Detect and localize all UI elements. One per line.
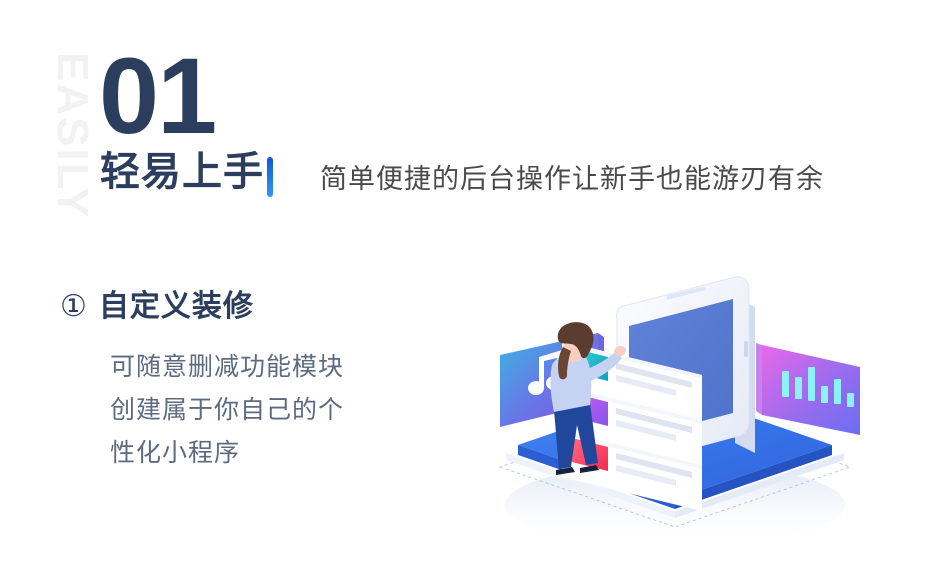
page-title: 轻易上手 xyxy=(100,152,264,192)
feature-body: 可随意删减功能模块 创建属于你自己的个 性化小程序 xyxy=(110,346,430,475)
feature-block: ① 自定义装修 可随意删减功能模块 创建属于你自己的个 性化小程序 xyxy=(60,292,430,475)
feature-body-line: 可随意删减功能模块 xyxy=(110,346,430,389)
illustration-isometric-scene xyxy=(470,255,880,555)
header-block: EASILY 01 轻易上手 简单便捷的后台操作让新手也能游刃有余 xyxy=(0,0,950,240)
feature-heading: 自定义装修 xyxy=(99,292,254,322)
section-number: 01 xyxy=(99,42,215,150)
chart-card xyxy=(756,343,860,435)
feature-heading-row: ① 自定义装修 xyxy=(60,292,430,322)
feature-body-line: 性化小程序 xyxy=(110,432,430,475)
feature-body-line: 创建属于你自己的个 xyxy=(110,389,430,432)
feature-index-badge: ① xyxy=(60,292,87,322)
page-subtitle: 简单便捷的后台操作让新手也能游刃有余 xyxy=(320,163,824,195)
watermark-easily-text: EASILY xyxy=(47,52,97,212)
title-divider-bar xyxy=(267,157,273,197)
slide-root: EASILY 01 轻易上手 简单便捷的后台操作让新手也能游刃有余 ① 自定义装… xyxy=(0,0,950,562)
